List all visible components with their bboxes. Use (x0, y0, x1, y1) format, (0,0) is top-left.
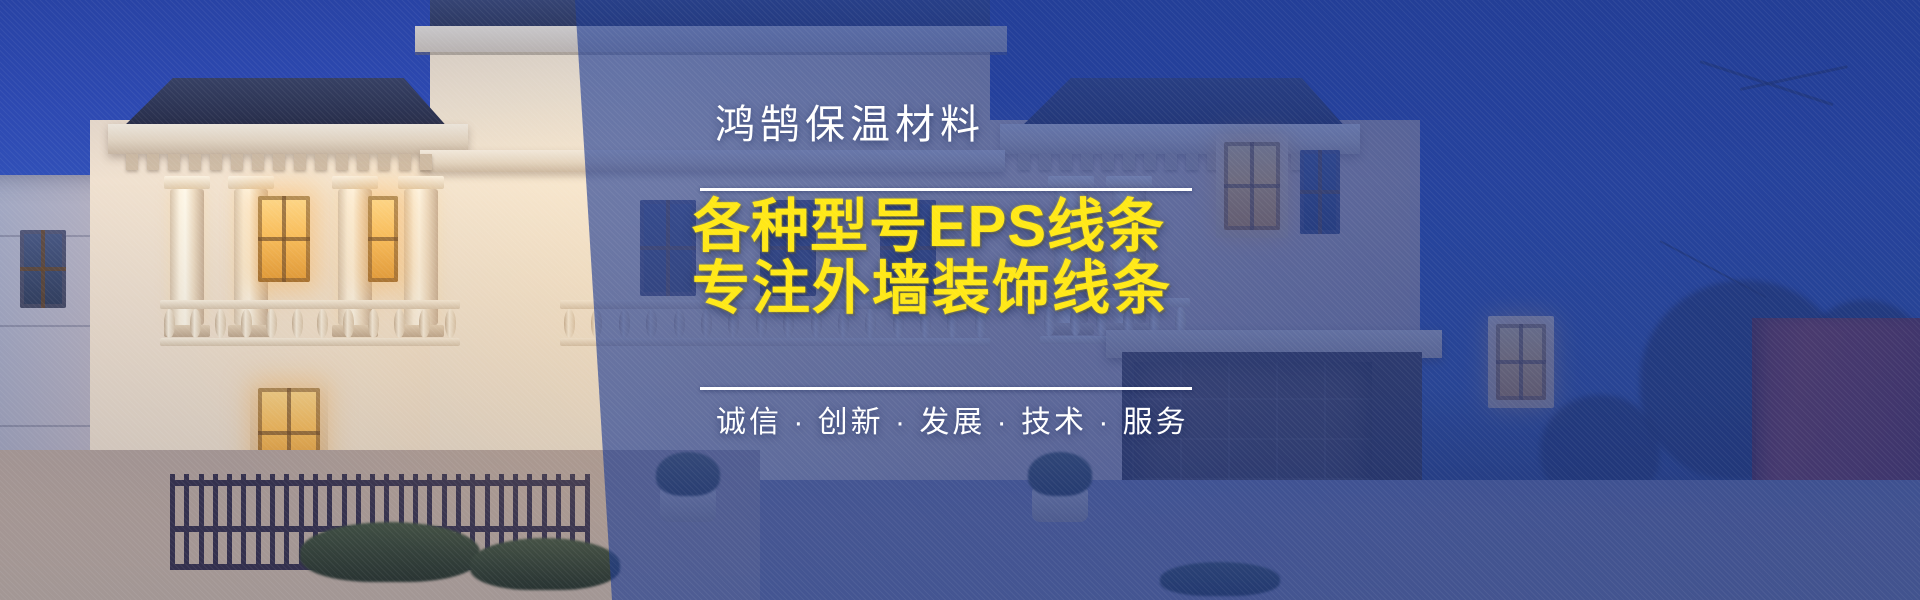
column-capital (332, 176, 378, 189)
balustrade (160, 300, 460, 346)
headline-line-2: 专注外墙装饰线条 (692, 258, 1232, 320)
window (20, 230, 66, 308)
hero-banner: 鸿鹄保温材料 各种型号EPS线条 专注外墙装饰线条 诚信 · 创新 · 发展 ·… (0, 0, 1920, 600)
shrub (300, 522, 480, 582)
column-capital (398, 176, 444, 189)
shrub (470, 538, 620, 590)
cornice-left (108, 124, 468, 154)
window-lit (368, 196, 398, 282)
dentil-row-left (126, 154, 432, 170)
headline-group: 各种型号EPS线条 专注外墙装饰线条 (692, 196, 1232, 320)
window-lit (258, 196, 310, 282)
headline-line-1: 各种型号EPS线条 (692, 196, 1232, 258)
divider-bottom (700, 387, 1192, 390)
banner-text-block: 鸿鹄保温材料 各种型号EPS线条 专注外墙装饰线条 诚信 · 创新 · 发展 ·… (700, 0, 1220, 600)
brand-name: 鸿鹄保温材料 (715, 105, 985, 145)
column-capital (228, 176, 274, 189)
tagline: 诚信 · 创新 · 发展 · 技术 · 服务 (716, 404, 1189, 442)
column-capital (164, 176, 210, 189)
window-lit (1224, 142, 1280, 230)
window (640, 200, 696, 296)
window-lit (1496, 324, 1546, 400)
left-hip-roof (120, 78, 450, 130)
divider-top (700, 188, 1192, 191)
window (1300, 150, 1340, 234)
